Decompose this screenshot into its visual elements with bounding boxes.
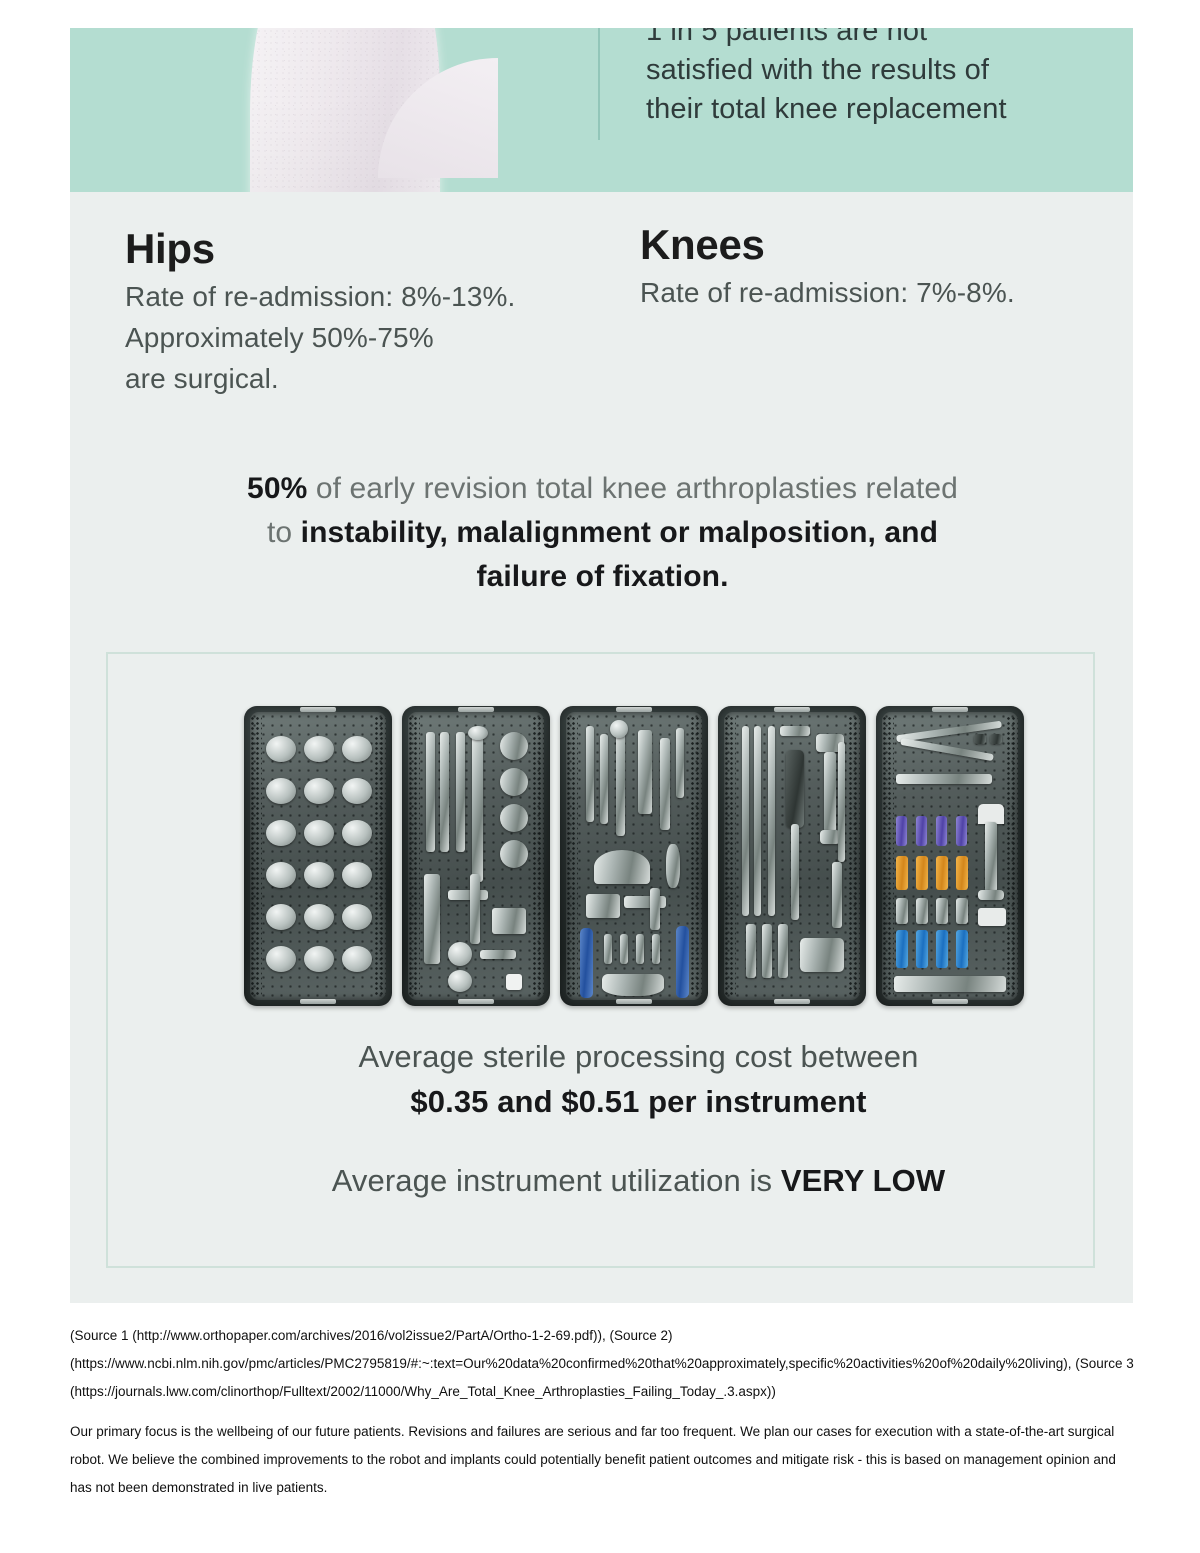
reamer-shaft xyxy=(791,824,799,920)
knees-column: Knees Rate of re-admission: 7%-8%. xyxy=(640,220,1120,313)
purple-handle-instrument xyxy=(956,816,967,846)
tray-latch-bottom xyxy=(774,999,810,1004)
instrument-rod xyxy=(676,728,684,798)
clamp-ring xyxy=(500,768,528,796)
instrument-shaft xyxy=(985,822,997,892)
revision-statement-line3: failure of fixation. xyxy=(120,555,1085,599)
clamp-ring xyxy=(500,732,528,760)
instrument-pin xyxy=(636,934,644,964)
tray-mesh-right xyxy=(1006,716,1018,996)
revision-percent: 50% xyxy=(247,472,307,505)
purple-handle-instrument xyxy=(936,816,947,846)
implant-trial xyxy=(304,736,334,762)
instrument-block xyxy=(506,974,522,990)
vertical-divider xyxy=(598,28,600,140)
implant-trial xyxy=(342,904,372,930)
implant-trial xyxy=(266,778,296,804)
blue-handle-instrument xyxy=(676,926,689,998)
bone-texture xyxy=(250,28,440,192)
tray-mesh-left xyxy=(250,716,262,996)
revision-lite-1: of early revision total knee arthroplast… xyxy=(307,472,958,505)
drill-rod xyxy=(832,862,842,928)
implant-trial xyxy=(342,736,372,762)
instrument-tip xyxy=(956,898,968,924)
instrument-pin xyxy=(652,934,660,964)
instrument-yoke xyxy=(594,850,650,884)
instrument-clip xyxy=(974,734,986,744)
orange-handle-instrument xyxy=(956,856,968,890)
tray-1-implant-trials xyxy=(244,706,392,1006)
instrument-rod xyxy=(426,732,435,852)
tray-mesh-left xyxy=(882,716,894,996)
orange-handle-instrument xyxy=(916,856,928,890)
reamer-collar xyxy=(820,830,840,844)
tray-5-color-coded-instruments xyxy=(876,706,1024,1006)
tray-mesh-right xyxy=(690,716,702,996)
blue-handle-instrument xyxy=(896,930,908,968)
instrument-rod xyxy=(650,888,660,930)
instrument-rod xyxy=(616,726,625,836)
utilization-prefix: Average instrument utilization is xyxy=(332,1163,781,1198)
implant-trial xyxy=(342,820,372,846)
instrument-head xyxy=(586,894,620,918)
management-statement: Our primary focus is the wellbeing of ou… xyxy=(70,1418,1132,1502)
implant-trial xyxy=(266,946,296,972)
instrument-tbar xyxy=(780,726,810,736)
instrument-trays-image xyxy=(244,706,1024,1006)
hips-column: Hips Rate of re-admission: 8%-13%. Appro… xyxy=(125,224,635,399)
drill-bit xyxy=(762,924,772,978)
knees-title: Knees xyxy=(640,220,1120,270)
orange-handle-instrument xyxy=(936,856,948,890)
cost-block: Average sterile processing cost between … xyxy=(144,1034,1133,1203)
tray-latch-bottom xyxy=(458,999,494,1004)
tray-mesh-left xyxy=(724,716,736,996)
revision-statement-line2: to instability, malalignment or malposit… xyxy=(120,511,1085,555)
utilization-line: Average instrument utilization is VERY L… xyxy=(144,1158,1133,1203)
tray-lid xyxy=(882,712,1018,1000)
instrument-rod xyxy=(456,732,465,852)
reamer-shaft xyxy=(824,752,836,832)
tray-mesh-right xyxy=(848,716,860,996)
instrument-rod xyxy=(600,734,608,824)
implant-trial xyxy=(266,862,296,888)
tray-3-general-instruments xyxy=(560,706,708,1006)
instrument-rod xyxy=(440,732,449,852)
instrument-tip xyxy=(916,898,928,924)
sources-footnote: (Source 1 (http://www.orthopaper.com/arc… xyxy=(70,1322,1135,1406)
blue-handle-instrument xyxy=(956,930,968,968)
instrument-shaft xyxy=(638,730,652,814)
implant-trial xyxy=(266,736,296,762)
drill-rod xyxy=(742,726,749,916)
instrument-clamp xyxy=(978,908,1006,926)
instrument-clip xyxy=(990,734,1002,744)
instrument-pin xyxy=(620,934,628,964)
orange-handle-instrument xyxy=(896,856,908,890)
instrument-shaft xyxy=(472,732,483,882)
instrument-rod xyxy=(470,874,480,944)
purple-handle-instrument xyxy=(896,816,907,846)
instrument-row xyxy=(894,976,1006,992)
hips-stat-line2: Approximately 50%-75% xyxy=(125,317,635,358)
instrument-frame: Average sterile processing cost between … xyxy=(106,652,1095,1268)
cutting-block xyxy=(424,874,440,964)
implant-trial xyxy=(304,778,334,804)
instrument-guide xyxy=(800,938,844,972)
tray-mesh-left xyxy=(408,716,420,996)
cutting-block xyxy=(492,908,526,934)
drill-bit xyxy=(746,924,756,978)
implant-trial xyxy=(304,904,334,930)
tray-mesh-left xyxy=(566,716,578,996)
instrument-plate xyxy=(602,974,664,996)
implant-trial xyxy=(266,820,296,846)
blue-handle-instrument xyxy=(936,930,948,968)
tray-mesh-right xyxy=(532,716,544,996)
instrument-hook xyxy=(666,844,680,888)
tray-latch-bottom xyxy=(300,999,336,1004)
reamer-flute xyxy=(786,750,804,828)
instrument-pin xyxy=(604,934,612,964)
clamp-ring xyxy=(500,804,528,832)
instrument-base xyxy=(978,890,1004,900)
purple-handle-instrument xyxy=(916,816,927,846)
tray-lid xyxy=(408,712,544,1000)
tray-latch-bottom xyxy=(932,999,968,1004)
knees-stat-line1: Rate of re-admission: 7%-8%. xyxy=(640,272,1120,313)
hips-stat-line3: are surgical. xyxy=(125,358,635,399)
instrument-ring xyxy=(610,720,628,738)
implant-trial xyxy=(342,778,372,804)
implant-trial xyxy=(304,862,334,888)
blue-handle-instrument xyxy=(916,930,928,968)
tray-2-cutting-blocks xyxy=(402,706,550,1006)
tray-lid xyxy=(724,712,860,1000)
implant-trial xyxy=(304,820,334,846)
cost-line-2: $0.35 and $0.51 per instrument xyxy=(144,1079,1133,1124)
instrument-wheel xyxy=(448,970,472,992)
drill-rod xyxy=(754,726,761,916)
hips-stat-line1: Rate of re-admission: 8%-13%. xyxy=(125,276,635,317)
utilization-emphasis: VERY LOW xyxy=(781,1163,945,1198)
drill-rod xyxy=(838,742,845,862)
implant-trial xyxy=(342,946,372,972)
instrument-tip xyxy=(896,898,908,924)
instrument-tip xyxy=(936,898,948,924)
revision-bold-2: instability, malalignment or malposition… xyxy=(301,516,938,549)
revision-lite-2: to xyxy=(267,516,301,549)
blue-handle-instrument xyxy=(580,928,593,998)
cutting-block xyxy=(448,890,488,900)
drill-rod xyxy=(768,726,775,916)
tray-mesh-right xyxy=(374,716,386,996)
tray-lid xyxy=(250,712,386,1000)
implant-trial xyxy=(342,862,372,888)
tray-lid xyxy=(566,712,702,1000)
instrument-bar xyxy=(896,774,992,784)
instrument-bar xyxy=(480,950,516,959)
instrument-clamp xyxy=(978,804,1004,824)
hero-headline-line1: 1 in 5 patients are not xyxy=(646,28,1116,51)
instrument-wheel xyxy=(448,942,472,966)
tray-4-reamers-drills xyxy=(718,706,866,1006)
instrument-tip xyxy=(468,726,488,740)
hero-headline-line2: satisfied with the results of xyxy=(646,51,1116,90)
hero-headline-line3: their total knee replacement xyxy=(646,90,1116,129)
hero-banner: 1 in 5 patients are not satisfied with t… xyxy=(70,28,1133,192)
revision-bold-3: failure of fixation. xyxy=(476,560,728,593)
hips-title: Hips xyxy=(125,224,635,274)
content-panel: Hips Rate of re-admission: 8%-13%. Appro… xyxy=(70,192,1133,1303)
revision-statement: 50% of early revision total knee arthrop… xyxy=(120,467,1085,599)
cost-line-1: Average sterile processing cost between xyxy=(144,1034,1133,1079)
hero-headline: 1 in 5 patients are not satisfied with t… xyxy=(646,28,1116,129)
instrument-rod xyxy=(586,726,594,822)
revision-statement-line1: 50% of early revision total knee arthrop… xyxy=(120,467,1085,511)
clamp-ring xyxy=(500,840,528,868)
instrument-rod xyxy=(660,738,670,830)
implant-trial xyxy=(266,904,296,930)
drill-bit xyxy=(778,924,788,978)
bone-illustration xyxy=(250,28,440,192)
implant-trial xyxy=(304,946,334,972)
tray-latch-bottom xyxy=(616,999,652,1004)
